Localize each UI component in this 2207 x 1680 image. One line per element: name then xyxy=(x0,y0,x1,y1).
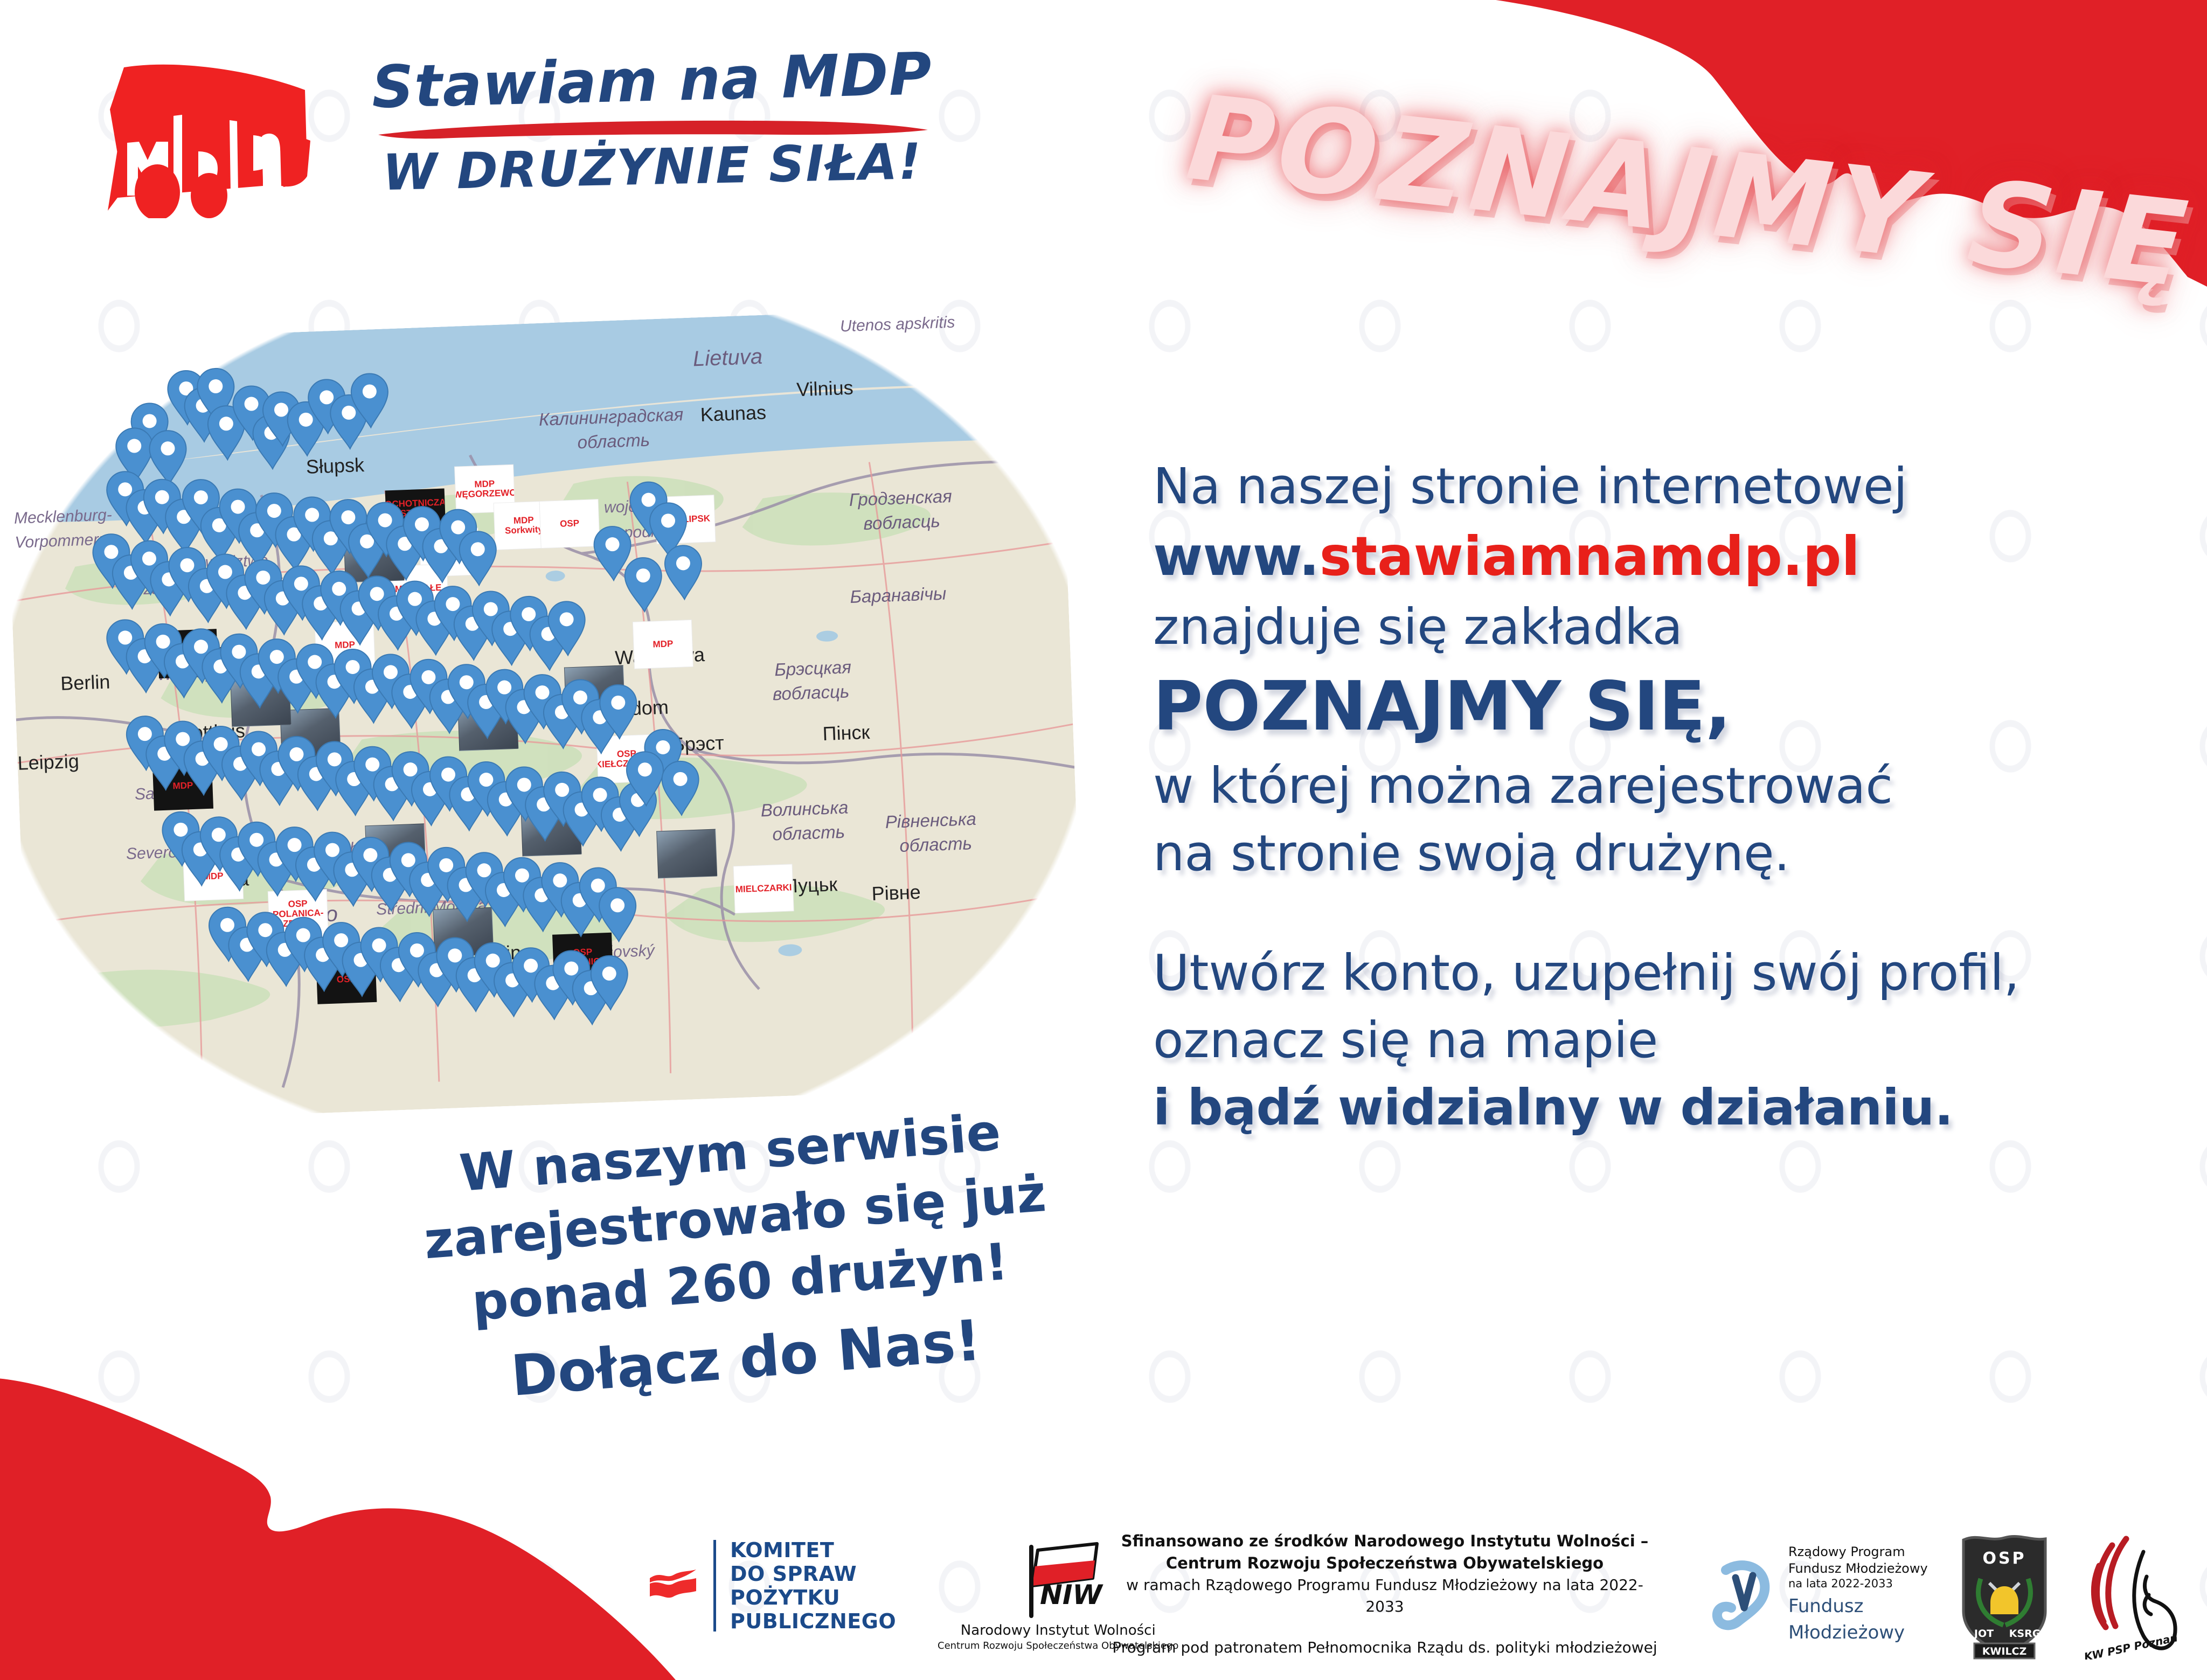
map-pin[interactable] xyxy=(545,600,588,657)
right-line-7: i bądź widzialny w działaniu. xyxy=(1153,1074,2091,1141)
map-pin[interactable] xyxy=(596,886,640,943)
right-text-column: Na naszej stronie internetowej www.stawi… xyxy=(1153,453,2091,1141)
right-column-spacer xyxy=(1153,887,2091,939)
right-line-2: znajduje się zakładka xyxy=(1153,593,2091,661)
brand-line-2: W DRUŻYNIE SIŁA! xyxy=(382,135,1008,198)
url-prefix: www. xyxy=(1153,525,1320,588)
right-line-3: w której można zarejestrować xyxy=(1153,752,2091,820)
website-url[interactable]: www.stawiamnamdp.pl xyxy=(1153,520,2091,593)
map-unit-logo-tile[interactable]: MDP xyxy=(633,620,693,669)
footer xyxy=(0,1499,2207,1677)
right-line-5: Utwórz konto, uzupełnij swój profil, xyxy=(1153,939,2091,1006)
tab-name-poznajmy-sie: POZNAJMY SIĘ, xyxy=(1153,661,2091,752)
map-collage[interactable]: LietuvaUtenos apskritisVilniusKaunasSłup… xyxy=(2,304,1086,1124)
brand-wordmark: Stawiam na MDP W DRUŻYNIE SIŁA! xyxy=(372,51,1008,213)
left-headline: W naszym serwisie zarejestrowało się już… xyxy=(363,1093,1114,1422)
right-line-4: na stronie swoją drużynę. xyxy=(1153,820,2091,887)
mdp-logo xyxy=(92,51,323,218)
right-line-1: Na naszej stronie internetowej xyxy=(1153,453,2091,520)
map-pin[interactable] xyxy=(588,954,631,1012)
map-pin[interactable] xyxy=(662,544,705,601)
map-unit-logo-tile[interactable] xyxy=(656,829,717,878)
url-domain: stawiamnamdp.pl xyxy=(1320,525,1860,588)
map-pin[interactable] xyxy=(456,530,499,587)
brand-line-1: Stawiam na MDP xyxy=(371,44,1008,117)
map-pin[interactable] xyxy=(349,372,392,429)
map-unit-logo-tile[interactable]: MIELCZARKI xyxy=(733,864,794,913)
map-unit-logo-tile[interactable]: OSP xyxy=(539,499,600,549)
map-pin[interactable] xyxy=(659,759,702,817)
right-line-6: oznacz się na mapie xyxy=(1153,1006,2091,1074)
map-pin[interactable] xyxy=(622,556,665,614)
map-pin[interactable] xyxy=(597,683,640,741)
